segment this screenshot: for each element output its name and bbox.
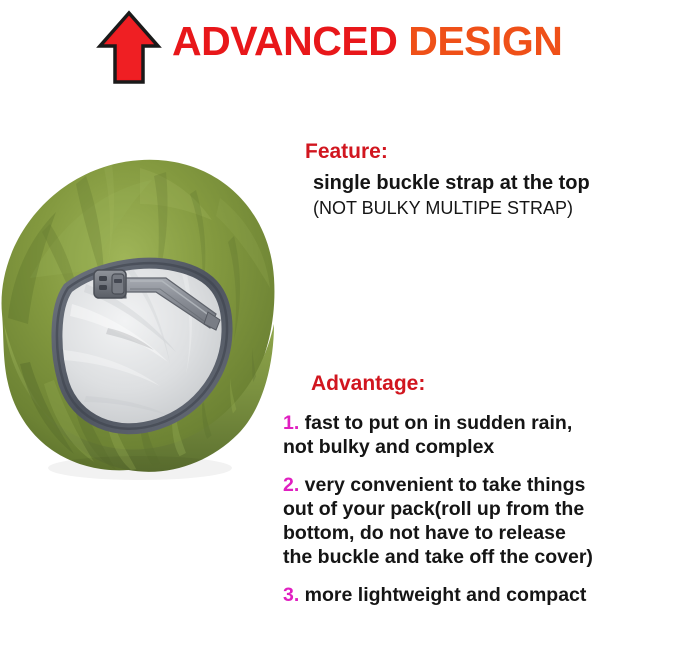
side-release-buckle [94, 270, 126, 298]
advantage-item-2-line-2: out of your pack(roll up from the [283, 497, 679, 521]
product-image [0, 128, 282, 484]
feature-block: Feature: single buckle strap at the top … [305, 138, 590, 221]
advantage-item-3: 3. more lightweight and compact [283, 583, 679, 607]
header-banner: ADVANCED DESIGN [0, 0, 679, 95]
infographic-page: ADVANCED DESIGN [0, 0, 679, 645]
feature-line-2: (NOT BULKY MULTIPE STRAP) [313, 196, 590, 221]
page-title-part-2: DESIGN [408, 18, 562, 64]
text-column: Feature: single buckle strap at the top … [283, 130, 679, 645]
advantage-item-2: 2. very convenient to take things out of… [283, 473, 679, 569]
advantage-item-2-line-4: the buckle and take off the cover) [283, 545, 679, 569]
advantage-item-3-number: 3. [283, 584, 299, 606]
advantage-item-1-number: 1. [283, 412, 299, 434]
feature-heading: Feature: [305, 138, 590, 165]
advantage-item-2-line-3: bottom, do not have to release [283, 521, 679, 545]
up-arrow-icon [96, 10, 162, 86]
advantage-item-1-line-1: fast to put on in sudden rain, [299, 412, 572, 434]
advantage-block: Advantage: 1. fast to put on in sudden r… [283, 370, 679, 607]
advantage-item-2-number: 2. [283, 474, 299, 496]
advantage-item-3-line-1: more lightweight and compact [299, 584, 586, 606]
page-title: ADVANCED DESIGN [172, 17, 562, 65]
advantage-item-2-line-1: very convenient to take things [299, 474, 585, 496]
advantage-item-1-line-2: not bulky and complex [283, 435, 679, 459]
advantage-heading: Advantage: [311, 370, 679, 397]
page-title-part-1: ADVANCED [172, 18, 397, 64]
feature-line-1: single buckle strap at the top [313, 171, 590, 196]
advantage-item-1: 1. fast to put on in sudden rain, not bu… [283, 411, 679, 459]
